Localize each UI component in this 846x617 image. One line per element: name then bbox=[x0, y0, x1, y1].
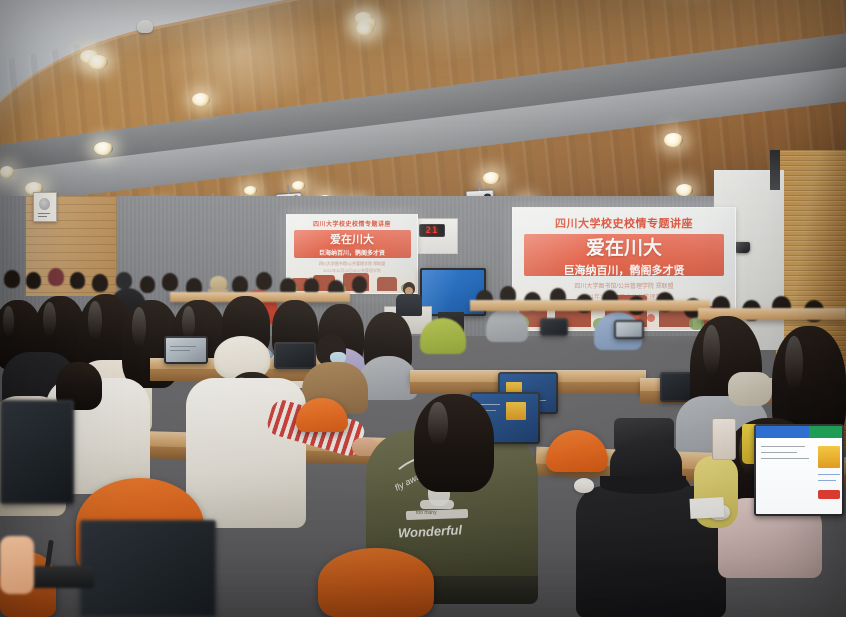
screen-thumbnail bbox=[506, 402, 526, 420]
audience-head bbox=[70, 272, 85, 289]
screen-text-line bbox=[761, 458, 809, 459]
hair-highlight bbox=[428, 402, 447, 446]
screen-text-line bbox=[761, 452, 797, 453]
downlight bbox=[244, 186, 257, 195]
downlight bbox=[483, 172, 500, 184]
laptop-screen bbox=[166, 338, 206, 362]
screen-button bbox=[818, 490, 840, 499]
scarf bbox=[728, 372, 772, 406]
tablet-screen bbox=[2, 402, 72, 502]
downlight bbox=[676, 184, 693, 196]
left-screen-subtitle: 巨海纳百川，鹘阁多才贤 bbox=[319, 248, 385, 257]
right-screen-title: 四川大学校史校情专题讲座 bbox=[513, 215, 735, 231]
audience-long-hair bbox=[414, 394, 494, 492]
screen-text-line bbox=[170, 346, 196, 347]
phone bbox=[712, 418, 736, 460]
laptop bbox=[80, 520, 216, 617]
sign-text-line bbox=[38, 216, 47, 217]
desk-row-far bbox=[470, 300, 710, 311]
computer-mouse bbox=[574, 478, 594, 493]
laptop-screen bbox=[756, 426, 842, 514]
laptop bbox=[540, 318, 568, 336]
hair-highlight bbox=[132, 307, 146, 347]
laptop bbox=[614, 320, 644, 339]
screen-text-line bbox=[818, 474, 840, 475]
red-led-clock: 21 bbox=[419, 224, 445, 237]
orange-chair bbox=[546, 430, 608, 472]
audience-head bbox=[26, 272, 41, 289]
audience-head bbox=[116, 272, 132, 289]
laptop-screen bbox=[276, 344, 314, 367]
audience-head bbox=[4, 270, 20, 288]
laptop-lid bbox=[540, 318, 568, 336]
tablet bbox=[0, 400, 74, 504]
screen-text-line bbox=[761, 446, 805, 447]
screen-text-line bbox=[818, 480, 836, 481]
tablet-frame bbox=[0, 400, 74, 504]
sign-graphic bbox=[39, 198, 50, 210]
lantern-graphic bbox=[647, 314, 655, 322]
hand bbox=[0, 536, 34, 594]
black-bucket-hat bbox=[610, 438, 682, 490]
downlight bbox=[192, 93, 210, 106]
screen-text-line bbox=[170, 350, 190, 351]
audience-head bbox=[256, 272, 272, 290]
wall-mounted-board bbox=[770, 150, 780, 190]
laptop-lid bbox=[754, 424, 844, 516]
laptop-lid bbox=[614, 320, 644, 339]
laptop bbox=[754, 424, 844, 516]
downlight bbox=[94, 142, 113, 155]
hat-brim bbox=[600, 476, 686, 494]
hair-highlight bbox=[3, 306, 15, 338]
screen-thumbnail bbox=[818, 446, 840, 468]
downlight bbox=[292, 181, 305, 190]
downlight bbox=[88, 55, 108, 69]
audience-head bbox=[92, 274, 108, 292]
audience-head bbox=[48, 268, 64, 286]
hair-highlight bbox=[703, 325, 720, 375]
audience-head bbox=[140, 276, 155, 293]
presenter-torso bbox=[396, 294, 422, 316]
laptop-screen bbox=[616, 322, 642, 337]
laptop-lid bbox=[274, 342, 316, 369]
audience-head bbox=[162, 273, 178, 291]
lecture-hall-photo: 21 四川大学校史校情专题讲座 爱在川大 巨海纳百川，鹘阁多才贤 四川大学图书馆… bbox=[0, 0, 846, 617]
laptop-lid bbox=[164, 336, 208, 364]
laptop-screen bbox=[542, 320, 566, 334]
seated-presenter bbox=[396, 282, 422, 316]
right-screen-subtitle: 巨海纳百川，鹘阁多才贤 bbox=[563, 262, 684, 278]
smoke-detector bbox=[137, 20, 153, 33]
laptop bbox=[164, 336, 208, 364]
downlight bbox=[0, 166, 14, 178]
left-screen-title: 四川大学校史校情专题讲座 bbox=[287, 219, 417, 228]
laptop-lid bbox=[80, 520, 216, 617]
right-screen-main-title: 爱在川大 bbox=[586, 233, 662, 260]
downlight bbox=[356, 22, 374, 35]
hair-highlight bbox=[43, 302, 55, 337]
hair-highlight bbox=[88, 301, 101, 340]
left-screen-main-title: 爱在川大 bbox=[330, 231, 374, 247]
hair-highlight bbox=[785, 336, 803, 390]
screen-titlebar-accent bbox=[809, 426, 842, 438]
downlight bbox=[664, 133, 683, 147]
pagoda-graphic bbox=[377, 277, 397, 291]
phone-in-hand bbox=[24, 566, 94, 588]
laptop-screen bbox=[82, 522, 214, 615]
audience-torso bbox=[486, 308, 528, 342]
jacket-print-ribbon-text: too many bbox=[416, 510, 437, 516]
wall-speaker bbox=[734, 242, 750, 253]
audience-cap bbox=[210, 276, 227, 289]
orange-chair bbox=[318, 548, 434, 617]
laptop bbox=[274, 342, 316, 369]
paper-sheet bbox=[689, 497, 724, 519]
cat-embroidery-base bbox=[420, 500, 454, 509]
audience-head bbox=[352, 276, 367, 293]
sign-text-line bbox=[38, 213, 50, 214]
framed-wall-sign bbox=[33, 192, 57, 222]
